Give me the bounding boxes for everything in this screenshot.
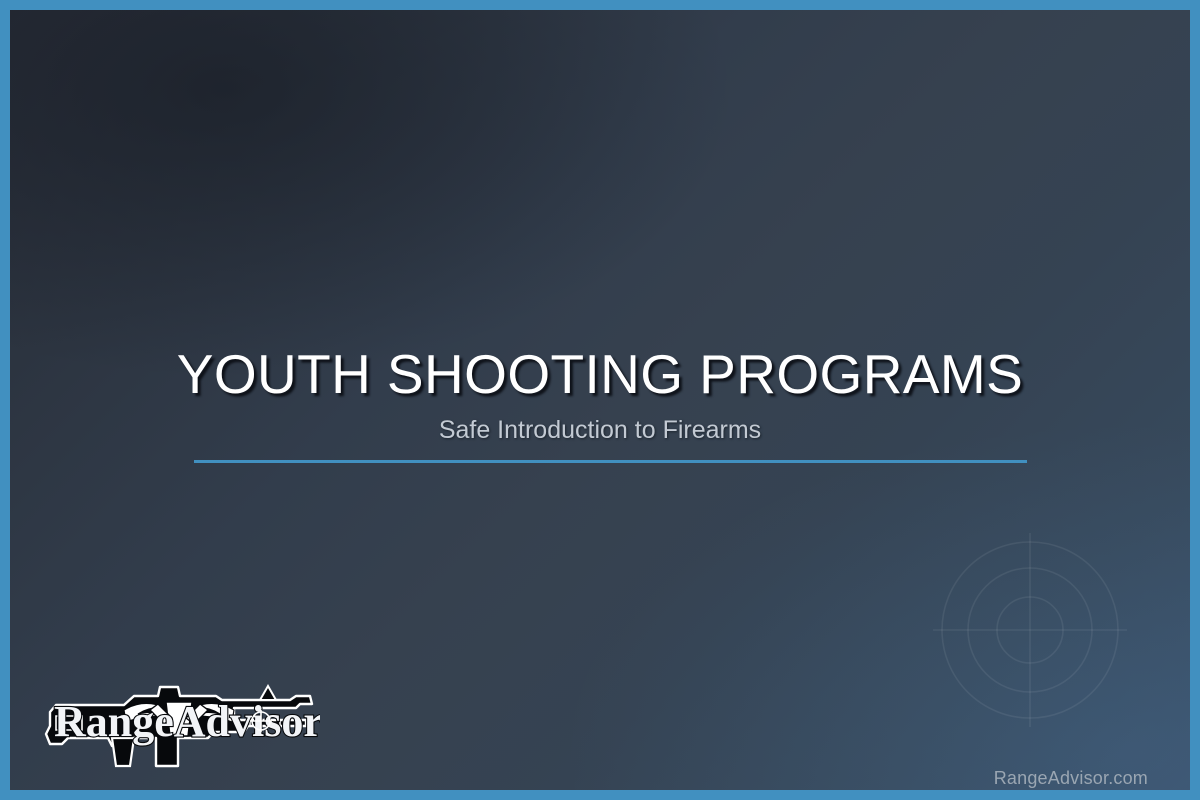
brand-logo: RangeAdvisor [38,674,320,778]
page-title: YOUTH SHOOTING PROGRAMS [10,346,1190,403]
page-subtitle: Safe Introduction to Firearms [10,417,1190,445]
title-block: YOUTH SHOOTING PROGRAMS Safe Introductio… [10,346,1190,445]
presentation-slide: YOUTH SHOOTING PROGRAMS Safe Introductio… [0,0,1200,800]
accent-divider [194,460,1027,463]
brand-logo-text: RangeAdvisor [54,697,320,746]
footer-website-label: RangeAdvisor.com [994,768,1148,789]
